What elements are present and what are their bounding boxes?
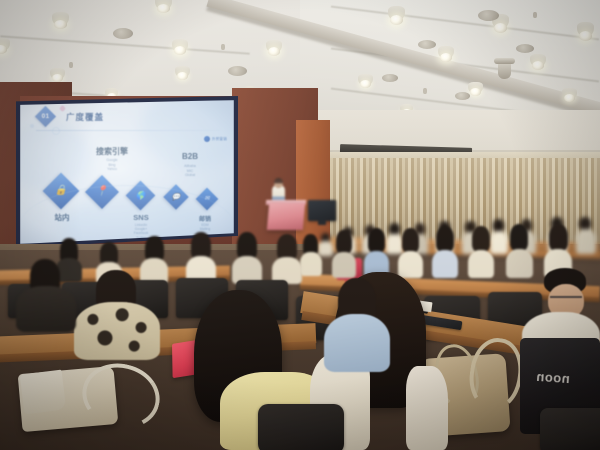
downlight-icon — [268, 47, 280, 56]
glasses-icon — [550, 296, 582, 304]
attendee-blue-top — [324, 282, 390, 372]
attendee — [300, 236, 322, 276]
attendee-dark-top — [16, 262, 76, 332]
downlight-icon — [470, 88, 481, 96]
downlight-icon — [177, 72, 188, 80]
ceiling-speaker-icon — [113, 28, 133, 39]
projector-icon — [498, 62, 511, 79]
attendee — [432, 228, 458, 278]
screen-vignette — [20, 100, 234, 244]
conference-room-photo: 01 广度覆盖 外贸营销 搜索引擎 Google Bing Yahoo B2B … — [0, 0, 600, 450]
downlight-icon — [440, 53, 452, 62]
ceiling-speaker-icon — [418, 40, 436, 49]
downlight-icon — [494, 23, 507, 33]
downlight-icon — [54, 20, 67, 29]
downlight-icon — [579, 31, 592, 41]
chair[interactable] — [258, 404, 344, 450]
sprinkler-icon — [423, 88, 427, 94]
downlight-icon — [564, 94, 575, 102]
downlight-icon — [532, 61, 544, 70]
attendee — [332, 232, 356, 278]
downlight-icon — [174, 46, 186, 55]
sprinkler-icon — [533, 12, 537, 18]
tote-bag-flap — [20, 370, 67, 415]
attendee — [232, 234, 262, 284]
sprinkler-icon — [221, 44, 225, 50]
attendee — [272, 236, 302, 284]
ceiling-speaker-icon — [382, 74, 398, 82]
ceiling-speaker-icon — [478, 10, 499, 21]
attendee — [364, 230, 389, 278]
projector-mount — [494, 58, 515, 64]
ceiling-speaker-icon — [455, 92, 470, 100]
stage-monitor-stand — [318, 220, 326, 225]
sprinkler-icon — [69, 62, 73, 68]
attendee — [398, 230, 423, 278]
black-bag-text: noon — [536, 369, 571, 386]
ceiling-speaker-icon — [228, 66, 247, 76]
presenter-head — [274, 178, 283, 188]
attendee — [506, 226, 533, 278]
attendee — [186, 234, 216, 284]
downlight-icon — [390, 15, 403, 25]
stage-monitor — [308, 200, 336, 221]
attendee — [468, 228, 494, 278]
attendee — [576, 218, 596, 254]
presentation-screen[interactable]: 01 广度覆盖 外贸营销 搜索引擎 Google Bing Yahoo B2B … — [20, 100, 234, 244]
attendee-floral — [74, 274, 160, 360]
downlight-icon — [52, 74, 63, 82]
ceiling-speaker-icon — [516, 44, 534, 53]
chair[interactable] — [540, 408, 600, 450]
podium — [267, 203, 305, 230]
downlight-icon — [360, 80, 371, 88]
downlight-icon — [157, 4, 170, 13]
